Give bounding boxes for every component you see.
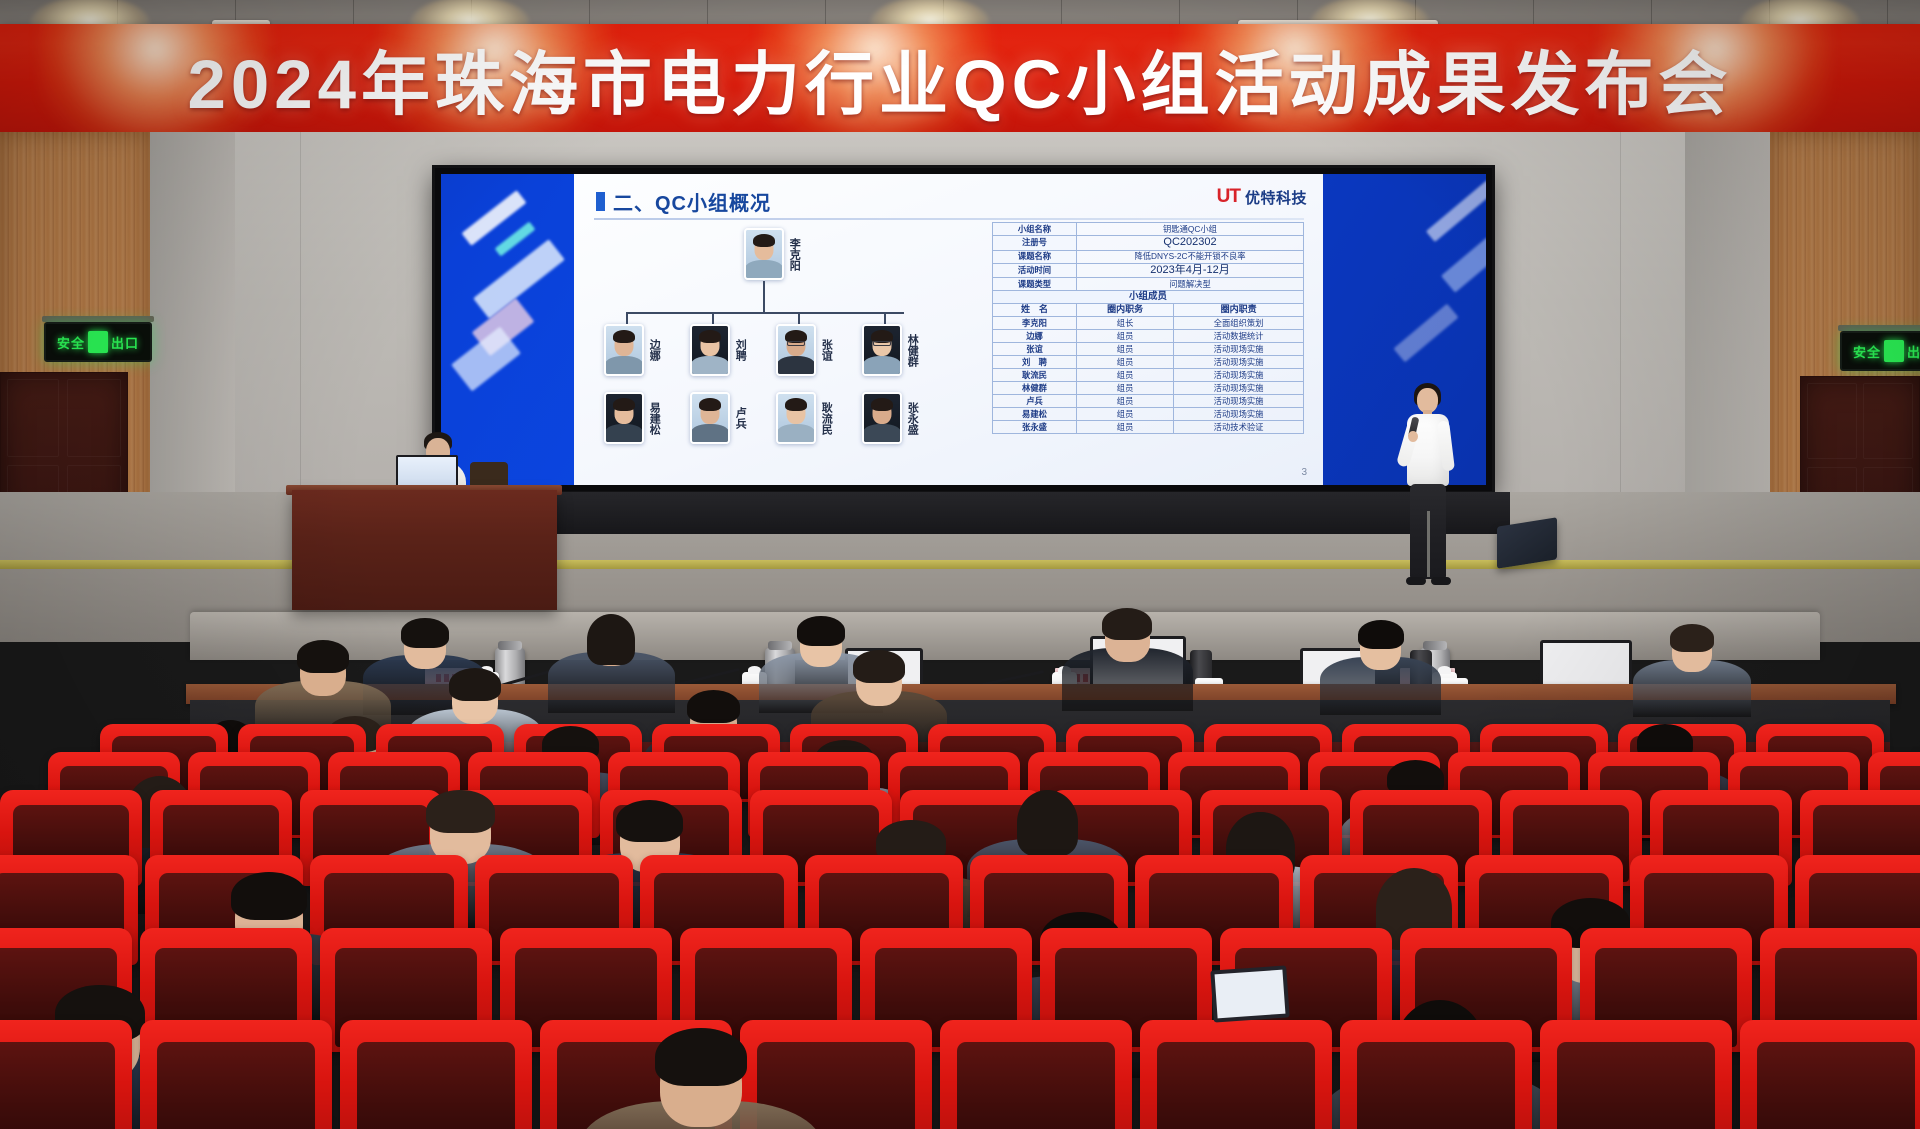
exit-sign-right-text-b: 出口: [1907, 342, 1920, 361]
audience-member-hair: [655, 1028, 747, 1086]
auditorium-seat[interactable]: [1540, 1020, 1732, 1129]
audience-member-hair: [797, 616, 844, 646]
audience-member-hair: [587, 614, 635, 665]
running-man-icon: [88, 331, 108, 353]
auditorium-seat[interactable]: [940, 1020, 1132, 1129]
stage-edge-strip: [0, 560, 1920, 569]
exit-sign-left-text-b: 出口: [111, 333, 139, 352]
audience-member-hair: [616, 800, 683, 842]
auditorium-seat[interactable]: [0, 1020, 132, 1129]
presenter-leg-gap: [1427, 511, 1430, 577]
exit-sign-left: 安全 出口: [44, 322, 152, 362]
auditorium-seat[interactable]: [1340, 1020, 1532, 1129]
presenter-shoe-left: [1406, 577, 1426, 585]
event-banner: 2024年珠海市电力行业QC小组活动成果发布会: [0, 24, 1920, 132]
audience-member-hair: [449, 668, 501, 701]
audience-laptop[interactable]: [1210, 965, 1289, 1022]
audience-member-hair: [1102, 608, 1152, 640]
presenter-shoe-right: [1431, 577, 1451, 585]
exit-sign-right-text-a: 安全: [1853, 342, 1881, 361]
presenter-hand: [1408, 431, 1418, 442]
exit-sign-left-text-a: 安全: [57, 333, 85, 352]
audience-member-hair: [231, 872, 307, 920]
running-man-icon: [1884, 340, 1904, 362]
audience-member-hair: [1358, 620, 1404, 649]
screen-base-panel: [420, 492, 1510, 534]
conference-hall-photo: 2024年珠海市电力行业QC小组活动成果发布会 安全 出口 安全 出口: [0, 0, 1920, 1129]
led-screen: 二、QC小组概况 UT 优特科技 李克阳边娜刘聘张谊林健群易建松卢兵耿流民张永盛…: [435, 168, 1492, 491]
audience-member-hair: [853, 650, 905, 683]
audience-member-hair: [1670, 624, 1715, 652]
auditorium-seat[interactable]: [340, 1020, 532, 1129]
presenter: [1393, 383, 1463, 593]
audience-member-hair: [401, 618, 448, 648]
operator-desk: [292, 490, 557, 610]
exit-sign-right: 安全 出口: [1840, 331, 1920, 371]
led-screen-surface: 二、QC小组概况 UT 优特科技 李克阳边娜刘聘张谊林健群易建松卢兵耿流民张永盛…: [441, 174, 1486, 485]
audience-member-hair: [426, 790, 494, 833]
audience-member-hair: [1017, 790, 1078, 856]
audience-member-hair: [297, 640, 349, 673]
auditorium-seat[interactable]: [1740, 1020, 1920, 1129]
auditorium-seat[interactable]: [140, 1020, 332, 1129]
banner-title: 2024年珠海市电力行业QC小组活动成果发布会: [0, 24, 1920, 132]
audience-member-hair: [687, 690, 740, 723]
auditorium-seat[interactable]: [1140, 1020, 1332, 1129]
